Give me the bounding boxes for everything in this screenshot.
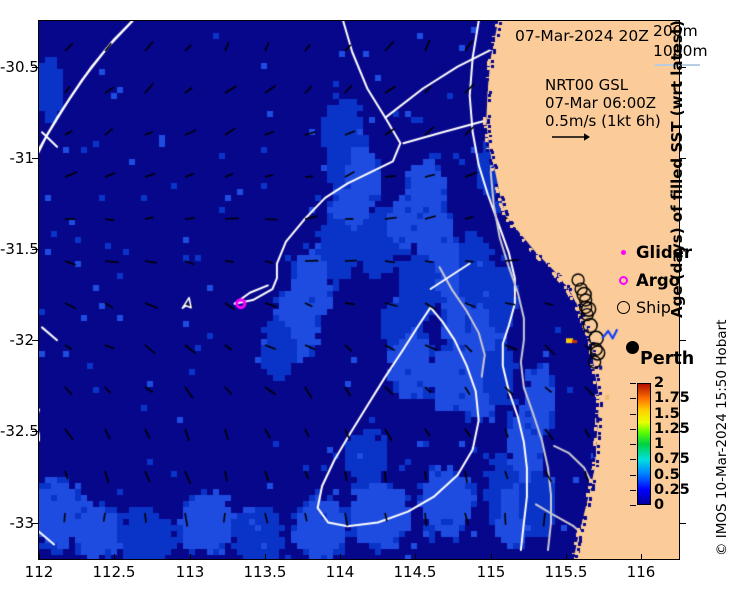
x-tick	[491, 554, 492, 560]
right-arrow-icon	[551, 128, 591, 140]
x-tick	[340, 554, 341, 560]
y-tick-label: -31.5	[0, 240, 34, 258]
y-tick-label: -33	[0, 514, 34, 532]
x-tick-label: 113.5	[230, 563, 300, 581]
x-tick-label: 112.5	[79, 563, 149, 581]
colorbar-tick	[630, 429, 636, 430]
legend-label-ship: Ship	[636, 298, 671, 317]
colorbar-title: Age (days) of filled SST (wrt latest)	[668, 78, 686, 318]
glider-marker-icon	[610, 250, 636, 255]
x-tick	[566, 554, 567, 560]
x-tick-label: 115.5	[531, 563, 601, 581]
y-tick-label: -31	[0, 149, 34, 167]
y-tick-right	[680, 340, 686, 341]
colorbar-tick-label: 1.5	[654, 407, 680, 422]
x-tick	[265, 554, 266, 560]
colorbar-tick-label: 0.25	[654, 483, 690, 498]
figure-canvas: 112112.5113113.5114114.5115115.5116-30.5…	[0, 0, 740, 592]
x-tick-label: 116	[606, 563, 676, 581]
x-tick-label: 112	[4, 563, 74, 581]
copyright-label: © IMOS 10-Mar-2024 15:50 Hobart	[714, 296, 730, 556]
colorbar-tick	[630, 505, 636, 506]
x-tick-label: 114.5	[380, 563, 450, 581]
y-tick-label: -32	[0, 331, 34, 349]
colorbar-tick-label: 0.5	[654, 468, 680, 483]
argo-marker-icon	[610, 276, 636, 285]
colorbar-tick	[630, 398, 636, 399]
colorbar-tick-label: 1.75	[654, 391, 690, 406]
colorbar-tick	[630, 444, 636, 445]
current-valid-time-label: 07-Mar 06:00Z	[545, 94, 656, 112]
colorbar-tick-label: 0	[654, 498, 664, 513]
colorbar	[637, 383, 651, 505]
colorbar-tick-label: 1	[654, 437, 664, 452]
colorbar-tick-label: 1.25	[654, 422, 690, 437]
colorbar-tick	[630, 414, 636, 415]
y-tick-label: -32.5	[0, 422, 34, 440]
current-product-label: NRT00 GSL	[545, 76, 628, 94]
x-tick	[114, 554, 115, 560]
x-tick	[415, 554, 416, 560]
colorbar-tick-label: 0.75	[654, 452, 690, 467]
colorbar-tick-label: 2	[654, 376, 664, 391]
legend-item-ship: Ship	[610, 298, 671, 317]
x-tick-label: 115	[456, 563, 526, 581]
x-tick-label: 113	[155, 563, 225, 581]
x-tick	[641, 554, 642, 560]
colorbar-tick	[630, 475, 636, 476]
x-tick	[39, 554, 40, 560]
x-tick-label: 114	[305, 563, 375, 581]
perth-city-marker-icon	[626, 341, 639, 354]
timestamp-label: 07-Mar-2024 20Z	[515, 27, 649, 45]
x-tick	[190, 554, 191, 560]
colorbar-tick	[630, 459, 636, 460]
colorbar-tick	[630, 383, 636, 384]
ship-marker-icon	[610, 301, 636, 314]
y-tick-right	[680, 523, 686, 524]
perth-city-label: Perth	[640, 349, 694, 369]
y-tick-label: -30.5	[0, 58, 34, 76]
colorbar-tick	[630, 490, 636, 491]
